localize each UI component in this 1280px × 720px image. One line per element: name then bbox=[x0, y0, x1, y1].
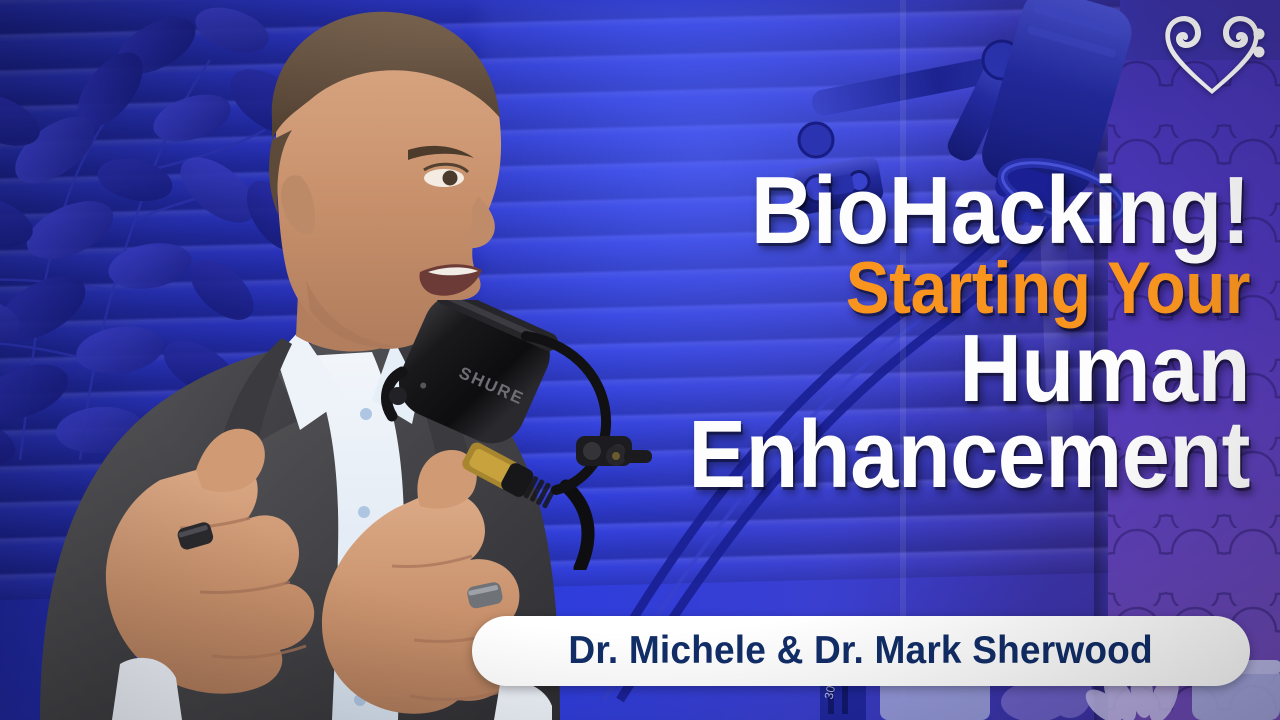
presenter-name-label: Dr. Michele & Dr. Mark Sherwood bbox=[569, 629, 1153, 673]
title-line-4: Enhancement bbox=[602, 412, 1250, 498]
title-line-3: Human bbox=[602, 326, 1250, 412]
bass-clef-heart-logo bbox=[1156, 8, 1268, 100]
title-line-2: Starting Your bbox=[602, 256, 1250, 322]
presenter-name-banner: Dr. Michele & Dr. Mark Sherwood bbox=[472, 616, 1250, 686]
thumbnail-canvas: 300D bbox=[0, 0, 1280, 720]
title-block: BioHacking! Starting Your Human Enhancem… bbox=[530, 168, 1250, 499]
title-line-1: BioHacking! bbox=[602, 168, 1250, 254]
